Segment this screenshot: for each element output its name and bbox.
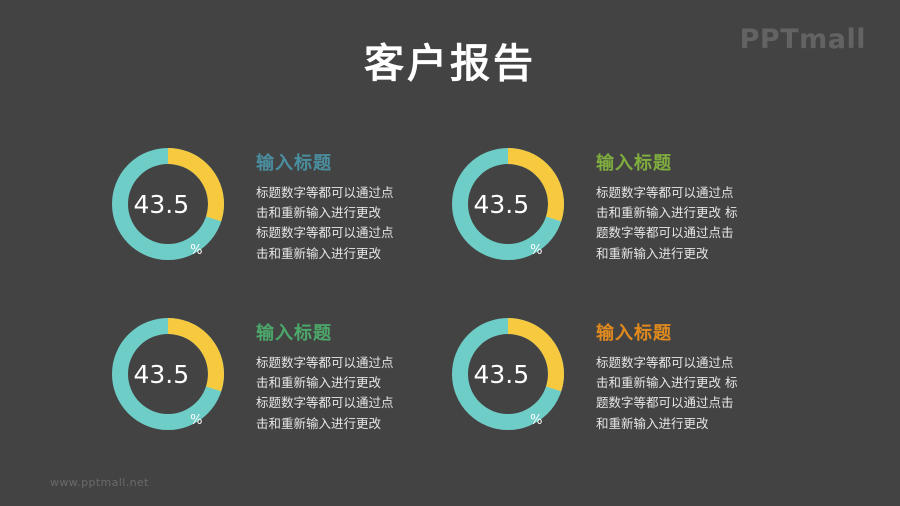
- body-line: 标题数字等都可以通过点: [256, 223, 446, 243]
- metric-heading: 输入标题: [256, 324, 446, 344]
- metric-body: 标题数字等都可以通过点 击和重新输入进行更改 标 题数字等都可以通过点击 和重新…: [596, 183, 786, 264]
- metric-body: 标题数字等都可以通过点 击和重新输入进行更改 标题数字等都可以通过点 击和重新输…: [256, 353, 446, 434]
- page-title: 客户报告: [0, 31, 900, 89]
- donut-chart: 43.5%: [452, 318, 570, 436]
- donut-chart: 43.5%: [112, 148, 230, 266]
- donut-value: 43.5: [133, 362, 189, 387]
- metric-heading: 输入标题: [596, 324, 786, 344]
- metric-item: 43.5% 输入标题 标题数字等都可以通过点 击和重新输入进行更改 标 题数字等…: [452, 142, 812, 292]
- metric-text-block: 输入标题 标题数字等都可以通过点 击和重新输入进行更改 标题数字等都可以通过点 …: [256, 312, 446, 434]
- metric-text-block: 输入标题 标题数字等都可以通过点 击和重新输入进行更改 标 题数字等都可以通过点…: [596, 142, 786, 264]
- donut-unit: %: [190, 414, 202, 430]
- donut-center-label: 43.5%: [112, 148, 224, 260]
- body-line: 标题数字等都可以通过点: [256, 183, 446, 203]
- donut-unit: %: [530, 244, 542, 260]
- donut-chart: 43.5%: [452, 148, 570, 266]
- metric-heading: 输入标题: [256, 154, 446, 174]
- metric-body: 标题数字等都可以通过点 击和重新输入进行更改 标 题数字等都可以通过点击 和重新…: [596, 353, 786, 434]
- donut-value: 43.5: [473, 362, 529, 387]
- body-line: 击和重新输入进行更改: [256, 373, 446, 393]
- metric-item: 43.5% 输入标题 标题数字等都可以通过点 击和重新输入进行更改 标 题数字等…: [452, 312, 812, 462]
- donut-unit: %: [530, 414, 542, 430]
- body-line: 题数字等都可以通过点击: [596, 393, 786, 413]
- body-line: 标题数字等都可以通过点: [256, 353, 446, 373]
- body-line: 和重新输入进行更改: [596, 244, 786, 264]
- body-line: 和重新输入进行更改: [596, 414, 786, 434]
- body-line: 击和重新输入进行更改 标: [596, 203, 786, 223]
- donut-center-label: 43.5%: [112, 318, 224, 430]
- slide-canvas: PPTmall 客户报告 43.5% 输入标题 标题数字等都可以通过点: [0, 0, 900, 506]
- body-line: 标题数字等都可以通过点: [256, 393, 446, 413]
- donut-center-label: 43.5%: [452, 148, 564, 260]
- body-line: 击和重新输入进行更改: [256, 414, 446, 434]
- body-line: 击和重新输入进行更改: [256, 203, 446, 223]
- metric-text-block: 输入标题 标题数字等都可以通过点 击和重新输入进行更改 标 题数字等都可以通过点…: [596, 312, 786, 434]
- donut-center-label: 43.5%: [452, 318, 564, 430]
- donut-grid: 43.5% 输入标题 标题数字等都可以通过点 击和重新输入进行更改 标题数字等都…: [0, 140, 900, 460]
- metric-heading: 输入标题: [596, 154, 786, 174]
- donut-unit: %: [190, 244, 202, 260]
- body-line: 击和重新输入进行更改 标: [596, 373, 786, 393]
- metric-body: 标题数字等都可以通过点 击和重新输入进行更改 标题数字等都可以通过点 击和重新输…: [256, 183, 446, 264]
- metric-item: 43.5% 输入标题 标题数字等都可以通过点 击和重新输入进行更改 标题数字等都…: [112, 142, 472, 292]
- body-line: 击和重新输入进行更改: [256, 244, 446, 264]
- donut-value: 43.5: [133, 192, 189, 217]
- body-line: 题数字等都可以通过点击: [596, 223, 786, 243]
- donut-chart: 43.5%: [112, 318, 230, 436]
- body-line: 标题数字等都可以通过点: [596, 353, 786, 373]
- metric-text-block: 输入标题 标题数字等都可以通过点 击和重新输入进行更改 标题数字等都可以通过点 …: [256, 142, 446, 264]
- body-line: 标题数字等都可以通过点: [596, 183, 786, 203]
- metric-item: 43.5% 输入标题 标题数字等都可以通过点 击和重新输入进行更改 标题数字等都…: [112, 312, 472, 462]
- footer-url: www.pptmall.net: [50, 476, 149, 489]
- donut-value: 43.5: [473, 192, 529, 217]
